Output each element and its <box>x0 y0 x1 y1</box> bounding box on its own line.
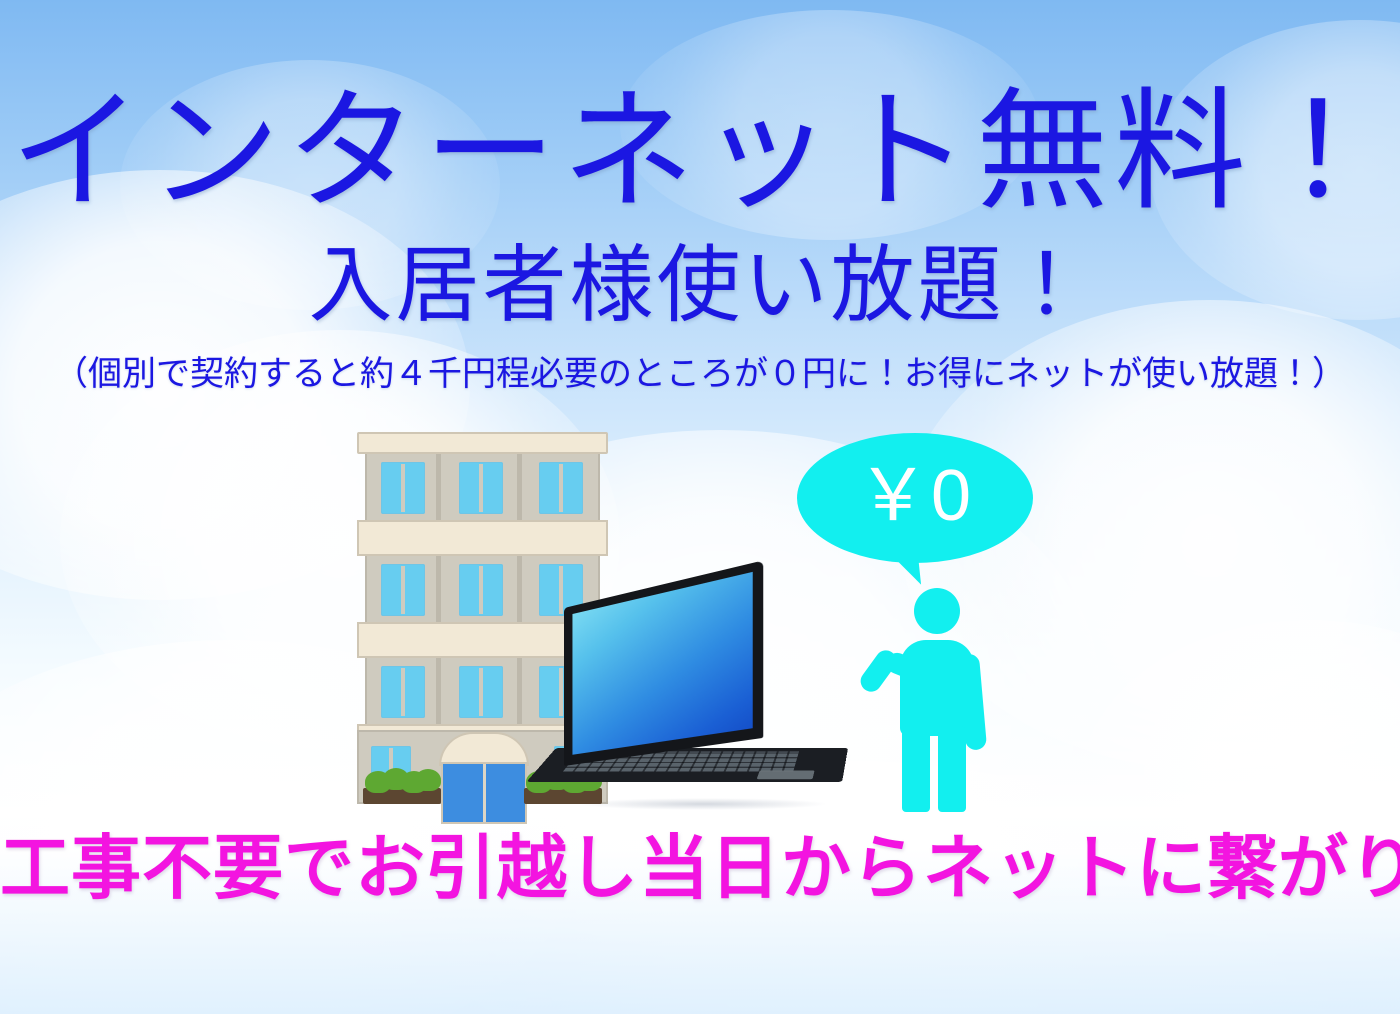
speech-bubble-tail <box>873 543 921 589</box>
building-window <box>381 666 425 718</box>
subheadline-text: 入居者様使い放題！ <box>0 243 1400 327</box>
building-floor-wall <box>365 454 600 520</box>
person-right-leg <box>938 726 966 812</box>
building-column <box>436 454 441 520</box>
building-balcony-band <box>357 520 608 556</box>
building-column <box>436 556 441 622</box>
bush-leaf <box>415 769 441 791</box>
laptop-screen <box>572 572 752 755</box>
note-text: （個別で契約すると約４千円程必要のところが０円に！お得にネットが使い放題！） <box>0 356 1400 393</box>
person-head <box>914 588 960 634</box>
building-column <box>517 556 522 622</box>
building-entrance-door <box>441 762 527 824</box>
building-window <box>381 564 425 616</box>
building-column <box>436 658 441 724</box>
building-window <box>459 462 503 514</box>
poster-canvas: インターネット無料！ 入居者様使い放題！ （個別で契約すると約４千円程必要のとこ… <box>0 0 1400 1014</box>
laptop-shadow <box>578 798 828 810</box>
building-column <box>517 454 522 520</box>
person-pictogram <box>862 588 1002 813</box>
building-roof <box>357 432 608 454</box>
building-window <box>459 564 503 616</box>
bush-left <box>363 770 441 804</box>
laptop-trackpad <box>757 770 815 779</box>
building-window <box>459 666 503 718</box>
building-column <box>517 658 522 724</box>
headline-text: インターネット無料！ <box>0 86 1400 218</box>
building-window <box>539 462 583 514</box>
laptop-computer-illustration <box>556 608 848 816</box>
building-window <box>381 462 425 514</box>
speech-bubble: ￥0 <box>797 433 1033 563</box>
tagline-text: 工事不要でお引越し当日からネットに繋がります <box>0 833 1400 903</box>
person-left-leg <box>902 726 930 812</box>
